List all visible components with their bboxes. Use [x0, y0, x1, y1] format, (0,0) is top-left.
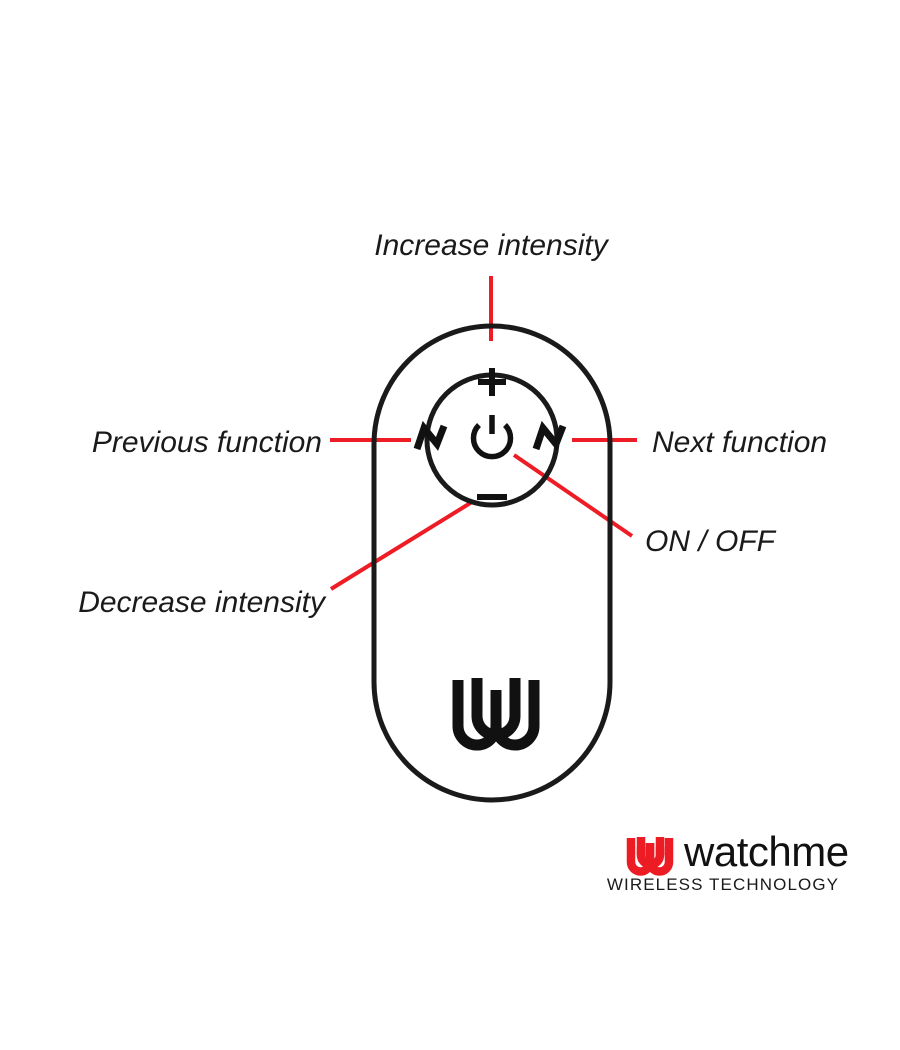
callout-label-decrease-intensity: Decrease intensity: [78, 586, 327, 619]
callout-label-next-function: Next function: [652, 426, 827, 459]
brand-lockup: watchme WIRELESS TECHNOLOGY: [607, 828, 849, 894]
brand-wordmark: watchme: [683, 828, 849, 875]
callout-label-increase-intensity: Increase intensity: [374, 229, 609, 262]
callout-label-on-off: ON / OFF: [645, 525, 777, 558]
callout-label-previous-function: Previous function: [92, 426, 322, 459]
diagram-root: Increase intensity Previous function Nex…: [0, 0, 900, 1050]
remote-control-diagram: Increase intensity Previous function Nex…: [0, 0, 900, 1050]
brand-tagline: WIRELESS TECHNOLOGY: [607, 875, 839, 894]
